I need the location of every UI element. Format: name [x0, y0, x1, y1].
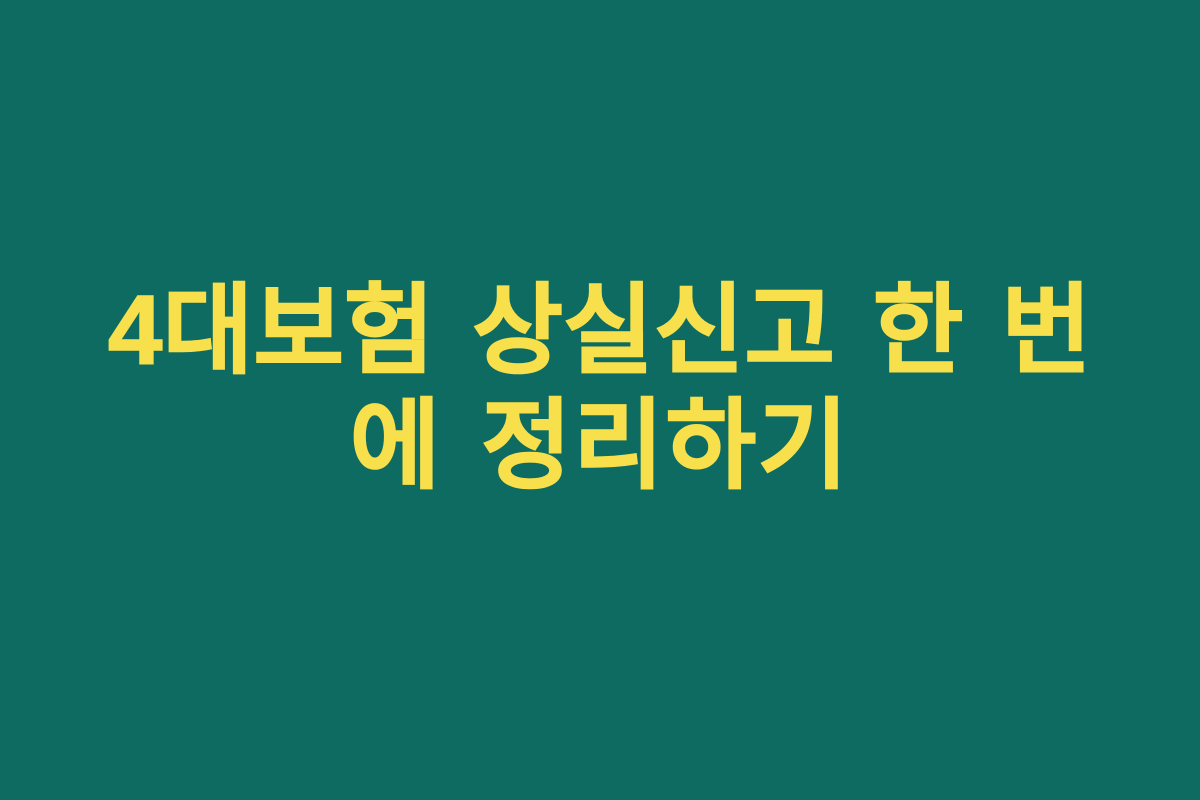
thumbnail-card: 4대보험 상실신고 한 번 에 정리하기: [0, 0, 1200, 800]
page-title: 4대보험 상실신고 한 번 에 정리하기: [95, 273, 1105, 502]
title-line-1: 4대보험 상실신고 한 번: [95, 273, 1105, 388]
title-line-2: 에 정리하기: [95, 388, 1105, 503]
